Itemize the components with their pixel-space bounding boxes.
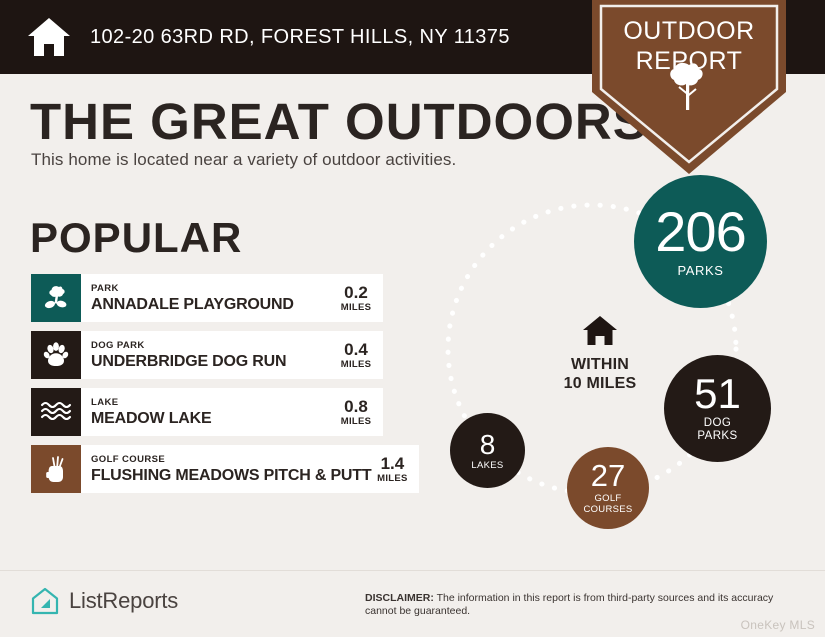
list-item-body: GOLF COURSE FLUSHING MEADOWS PITCH & PUT… [81,445,419,493]
page-subtitle: This home is located near a variety of o… [31,150,456,170]
list-item-name: UNDERBRIDGE DOG RUN [91,352,286,371]
list-item[interactable]: PARK ANNADALE PLAYGROUND 0.2 MILES [31,274,383,322]
page-title: THE GREAT OUTDOORS [30,94,648,150]
list-item-distance: 0.8 MILES [335,398,377,427]
bubble-golf-courses-label-line1: GOLF [583,493,632,504]
list-item-category: DOG PARK [91,340,286,352]
bubble-dog-parks-label: DOG PARKS [697,417,737,443]
bubble-dog-parks: 51 DOG PARKS [664,355,771,462]
center-line2: 10 MILES [545,374,655,393]
bubble-golf-courses: 27 GOLF COURSES [567,447,649,529]
paw-icon [31,331,81,379]
park-tree-icon [31,274,81,322]
list-item-category: GOLF COURSE [91,454,371,466]
outdoor-report-badge: OUTDOOR REPORT [592,0,786,174]
bubble-lakes: 8 LAKES [450,413,525,488]
bubble-golf-courses-label-line2: COURSES [583,504,632,515]
bubble-dog-parks-label-line1: DOG [697,417,737,430]
badge-title-line1: OUTDOOR [592,16,786,46]
list-item-name: FLUSHING MEADOWS PITCH & PUTT [91,466,371,485]
list-item-name: MEADOW LAKE [91,409,211,428]
list-item-body: PARK ANNADALE PLAYGROUND 0.2 MILES [81,274,383,322]
listreports-house-icon [30,586,60,616]
distance-value: 0.8 [335,398,377,416]
listreports-logo[interactable]: ListReports [30,586,178,616]
distance-unit: MILES [335,302,377,313]
distance-value: 0.2 [335,284,377,302]
distance-unit: MILES [335,416,377,427]
bubble-dog-parks-label-line2: PARKS [697,430,737,443]
list-item-name: ANNADALE PLAYGROUND [91,295,294,314]
disclaimer: DISCLAIMER: The information in this repo… [365,592,785,618]
mls-watermark: OneKey MLS [741,618,815,632]
home-icon [26,16,72,58]
bubble-golf-courses-label: GOLF COURSES [583,493,632,515]
amenities-bubble-chart: 206 PARKS 51 DOG PARKS 27 GOLF COURSES 8… [415,175,815,555]
bubble-parks-label: PARKS [677,263,723,278]
list-item-distance: 0.2 MILES [335,284,377,313]
section-title-popular: POPULAR [30,214,242,262]
bubble-golf-courses-value: 27 [591,461,625,491]
list-item[interactable]: GOLF COURSE FLUSHING MEADOWS PITCH & PUT… [31,445,383,493]
center-line1: WITHIN [545,355,655,374]
list-item-distance: 1.4 MILES [371,455,413,484]
list-item-body: DOG PARK UNDERBRIDGE DOG RUN 0.4 MILES [81,331,383,379]
chart-center-label: WITHIN 10 MILES [545,315,655,393]
disclaimer-label: DISCLAIMER: [365,592,434,604]
bubble-parks: 206 PARKS [634,175,767,308]
bubble-parks-value: 206 [655,205,745,259]
distance-value: 1.4 [371,455,413,473]
distance-unit: MILES [371,473,413,484]
home-icon [582,315,618,347]
list-item-category: LAKE [91,397,211,409]
property-address: 102-20 63RD RD, FOREST HILLS, NY 11375 [90,26,510,49]
list-item-body: LAKE MEADOW LAKE 0.8 MILES [81,388,383,436]
list-item[interactable]: DOG PARK UNDERBRIDGE DOG RUN 0.4 MILES [31,331,383,379]
badge-title: OUTDOOR REPORT [592,16,786,76]
badge-title-line2: REPORT [592,46,786,76]
popular-list: PARK ANNADALE PLAYGROUND 0.2 MILES [31,274,383,502]
bubble-lakes-label: LAKES [471,460,503,471]
distance-unit: MILES [335,359,377,370]
golf-bag-icon [31,445,81,493]
outdoor-report-page: 102-20 63RD RD, FOREST HILLS, NY 11375 O… [0,0,825,637]
list-item-category: PARK [91,283,294,295]
bubble-lakes-value: 8 [480,431,496,458]
listreports-logo-text: ListReports [69,588,178,614]
footer-divider [0,570,825,571]
bubble-dog-parks-value: 51 [694,374,741,414]
list-item-distance: 0.4 MILES [335,341,377,370]
list-item[interactable]: LAKE MEADOW LAKE 0.8 MILES [31,388,383,436]
waves-icon [31,388,81,436]
distance-value: 0.4 [335,341,377,359]
